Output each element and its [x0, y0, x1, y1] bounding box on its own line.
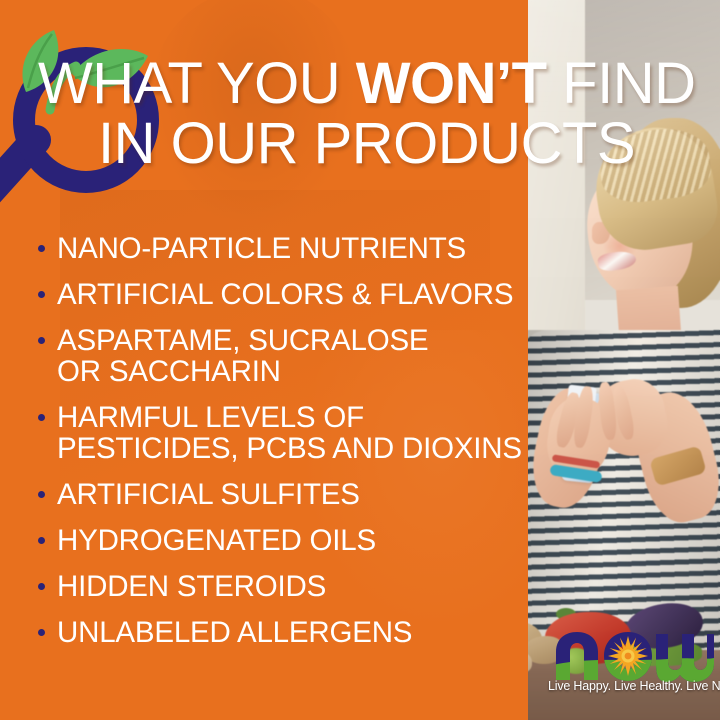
list-item-label: NANO-PARTICLE NUTRIENTS: [57, 233, 466, 264]
bullet-dot-icon: [38, 629, 45, 636]
list-item: UNLABELED ALLERGENS: [30, 617, 530, 648]
list-item: HARMFUL LEVELS OF PESTICIDES, PCBS AND D…: [30, 402, 530, 464]
list-item: ARTIFICIAL COLORS & FLAVORS: [30, 279, 530, 310]
list-item-label: HIDDEN STEROIDS: [57, 571, 326, 602]
headline-emphasis-wont: WON’T: [356, 51, 547, 116]
headline-line1-part2: FIND: [547, 51, 696, 116]
list-item: ASPARTAME, SUCRALOSE OR SACCHARIN: [30, 325, 530, 387]
list-item-label: ARTIFICIAL SULFITES: [57, 479, 360, 510]
list-item: HYDROGENATED OILS: [30, 525, 530, 556]
headline-line1-part1: WHAT YOU: [38, 51, 356, 116]
list-item: NANO-PARTICLE NUTRIENTS: [30, 233, 530, 264]
headline-line-1: WHAT YOU WON’T FIND: [38, 54, 696, 114]
bullet-dot-icon: [38, 537, 45, 544]
sunburst-icon: [608, 636, 648, 676]
bullet-dot-icon: [38, 337, 45, 344]
brand-tagline: Live Happy. Live Healthy. Live NOW.: [548, 679, 714, 693]
bullet-dot-icon: [38, 414, 45, 421]
promo-graphic: WHAT YOU WON’T FIND IN OUR PRODUCTS NANO…: [0, 0, 720, 720]
bullet-dot-icon: [38, 583, 45, 590]
bullet-dot-icon: [38, 245, 45, 252]
list-item: HIDDEN STEROIDS: [30, 571, 530, 602]
list-item: ARTIFICIAL SULFITES: [30, 479, 530, 510]
list-item-label: ARTIFICIAL COLORS & FLAVORS: [57, 279, 513, 310]
list-item-label: UNLABELED ALLERGENS: [57, 617, 412, 648]
bullet-dot-icon: [38, 491, 45, 498]
bullet-dot-icon: [38, 291, 45, 298]
list-item-label: HYDROGENATED OILS: [57, 525, 376, 556]
list-item-label: HARMFUL LEVELS OF PESTICIDES, PCBS AND D…: [57, 402, 522, 464]
headline-line-2: IN OUR PRODUCTS: [98, 114, 635, 174]
list-item-label: ASPARTAME, SUCRALOSE OR SACCHARIN: [57, 325, 428, 387]
excluded-ingredients-list: NANO-PARTICLE NUTRIENTS ARTIFICIAL COLOR…: [30, 233, 530, 663]
